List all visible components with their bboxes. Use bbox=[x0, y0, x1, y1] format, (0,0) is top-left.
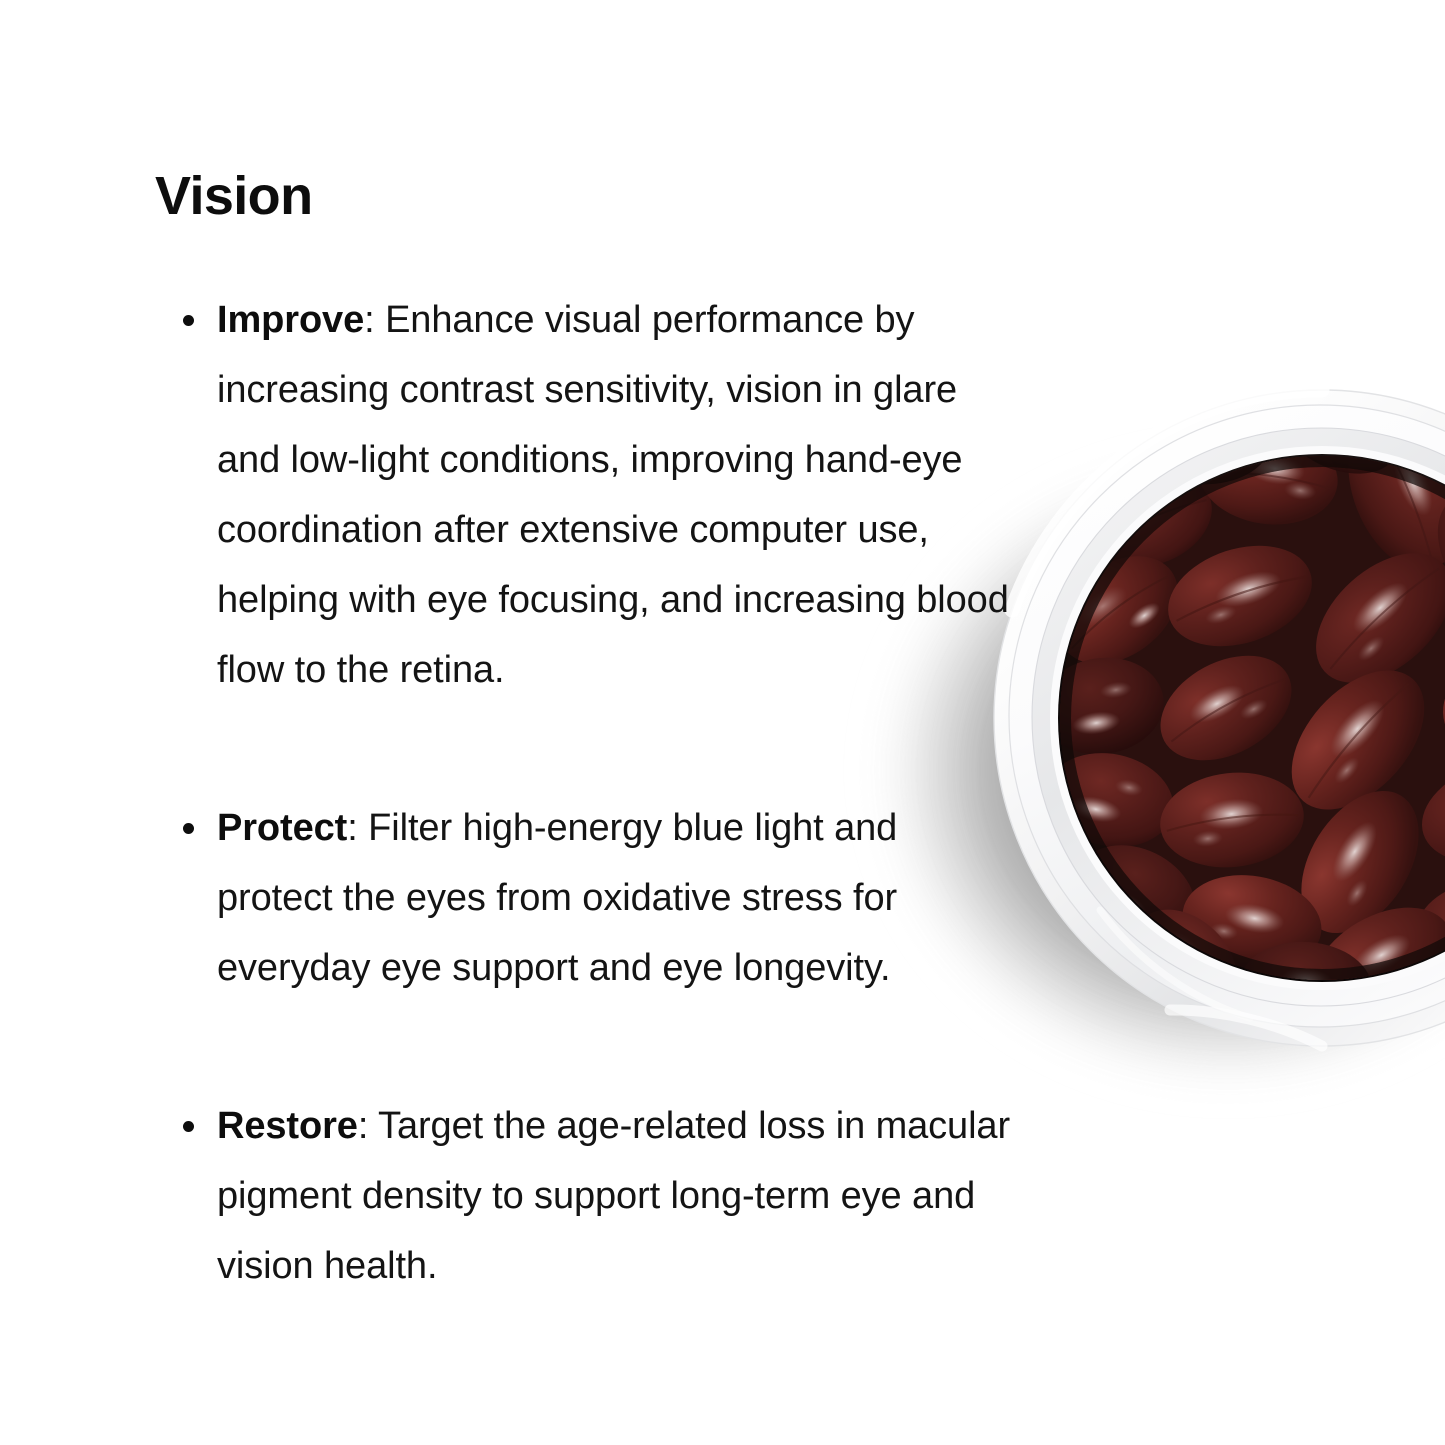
bottle-rim-sheen bbox=[1012, 390, 1322, 1046]
bullet-icon bbox=[183, 823, 194, 834]
benefit-separator: : bbox=[347, 807, 368, 849]
bullet-icon bbox=[183, 1121, 194, 1132]
benefit-term: Restore bbox=[217, 1105, 358, 1147]
benefit-term: Improve bbox=[217, 299, 364, 341]
list-item: Improve: Enhance visual performance by i… bbox=[155, 285, 1015, 705]
bottle-body bbox=[994, 390, 1445, 1046]
bottle-interior bbox=[1058, 454, 1445, 982]
benefit-list: Improve: Enhance visual performance by i… bbox=[155, 285, 1015, 1301]
benefit-term: Protect bbox=[217, 807, 347, 849]
benefit-separator: : bbox=[358, 1105, 378, 1147]
benefits-content: Vision Improve: Enhance visual performan… bbox=[155, 168, 1015, 1301]
capsule-pile bbox=[1034, 384, 1445, 1043]
bullet-icon bbox=[183, 315, 194, 326]
list-item: Restore: Target the age-related loss in … bbox=[155, 1091, 1015, 1301]
page-title: Vision bbox=[155, 168, 1015, 225]
product-benefits-page: Vision Improve: Enhance visual performan… bbox=[0, 0, 1445, 1445]
list-item: Protect: Filter high-energy blue light a… bbox=[155, 793, 1015, 1003]
benefit-separator: : bbox=[364, 299, 385, 341]
benefit-text: Enhance visual performance by increasing… bbox=[217, 299, 1009, 691]
